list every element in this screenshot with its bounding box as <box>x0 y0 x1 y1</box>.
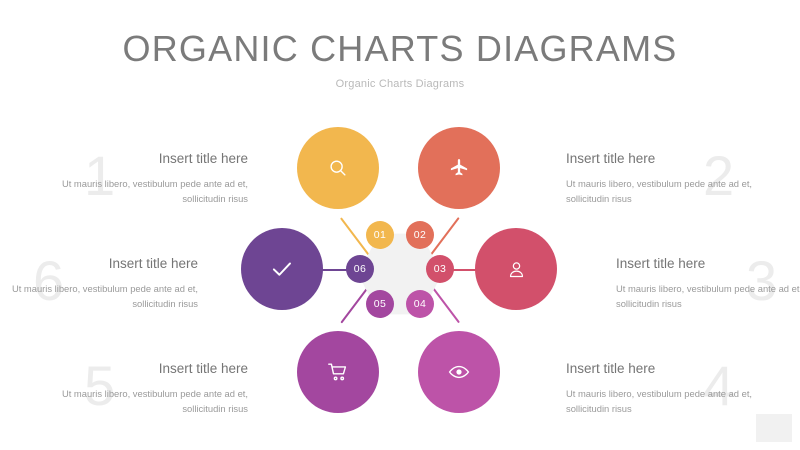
block-title-2: Insert title here <box>566 152 756 167</box>
connector-04 <box>431 286 460 324</box>
user-icon <box>506 259 527 280</box>
node-badge-06[interactable]: 06 <box>346 255 374 283</box>
airplane-icon <box>448 157 470 179</box>
node-badge-05[interactable]: 05 <box>366 290 394 318</box>
node-badge-03[interactable]: 03 <box>426 255 454 283</box>
block-title-1: Insert title here <box>58 152 248 167</box>
node-label-05: 05 <box>374 298 386 310</box>
node-label-03: 03 <box>434 263 446 275</box>
connector-01 <box>340 217 369 255</box>
node-label-06: 06 <box>354 263 366 275</box>
node-label-04: 04 <box>414 298 426 310</box>
petal-circle-02[interactable] <box>418 127 500 209</box>
block-title-5: Insert title here <box>58 362 248 377</box>
eye-icon <box>447 360 471 384</box>
block-title-3: Insert title here <box>616 257 800 272</box>
node-badge-01[interactable]: 01 <box>366 221 394 249</box>
block-body-6: Ut mauris libero, vestibulum pede ante a… <box>8 281 198 312</box>
corner-watermark <box>756 414 792 442</box>
connector-02 <box>431 217 460 255</box>
cart-icon <box>326 360 350 384</box>
check-icon <box>269 256 295 282</box>
block-title-4: Insert title here <box>566 362 756 377</box>
node-label-01: 01 <box>374 229 386 241</box>
block-body-3: Ut mauris libero, vestibulum pede ante a… <box>616 281 800 312</box>
block-title-6: Insert title here <box>8 257 198 272</box>
block-body-2: Ut mauris libero, vestibulum pede ante a… <box>566 176 756 207</box>
petal-circle-01[interactable] <box>297 127 379 209</box>
text-block-2: Insert title here Ut mauris libero, vest… <box>566 152 756 207</box>
block-body-5: Ut mauris libero, vestibulum pede ante a… <box>58 386 248 417</box>
petal-circle-06[interactable] <box>241 228 323 310</box>
node-badge-04[interactable]: 04 <box>406 290 434 318</box>
petal-circle-04[interactable] <box>418 331 500 413</box>
node-badge-02[interactable]: 02 <box>406 221 434 249</box>
petal-circle-05[interactable] <box>297 331 379 413</box>
search-icon <box>327 157 349 179</box>
text-block-6: Insert title here Ut mauris libero, vest… <box>8 257 198 312</box>
text-block-1: Insert title here Ut mauris libero, vest… <box>58 152 248 207</box>
petal-circle-03[interactable] <box>475 228 557 310</box>
block-body-1: Ut mauris libero, vestibulum pede ante a… <box>58 176 248 207</box>
text-block-5: Insert title here Ut mauris libero, vest… <box>58 362 248 417</box>
text-block-4: Insert title here Ut mauris libero, vest… <box>566 362 756 417</box>
text-block-3: Insert title here Ut mauris libero, vest… <box>616 257 800 312</box>
block-body-4: Ut mauris libero, vestibulum pede ante a… <box>566 386 756 417</box>
node-label-02: 02 <box>414 229 426 241</box>
connector-05 <box>340 286 369 324</box>
